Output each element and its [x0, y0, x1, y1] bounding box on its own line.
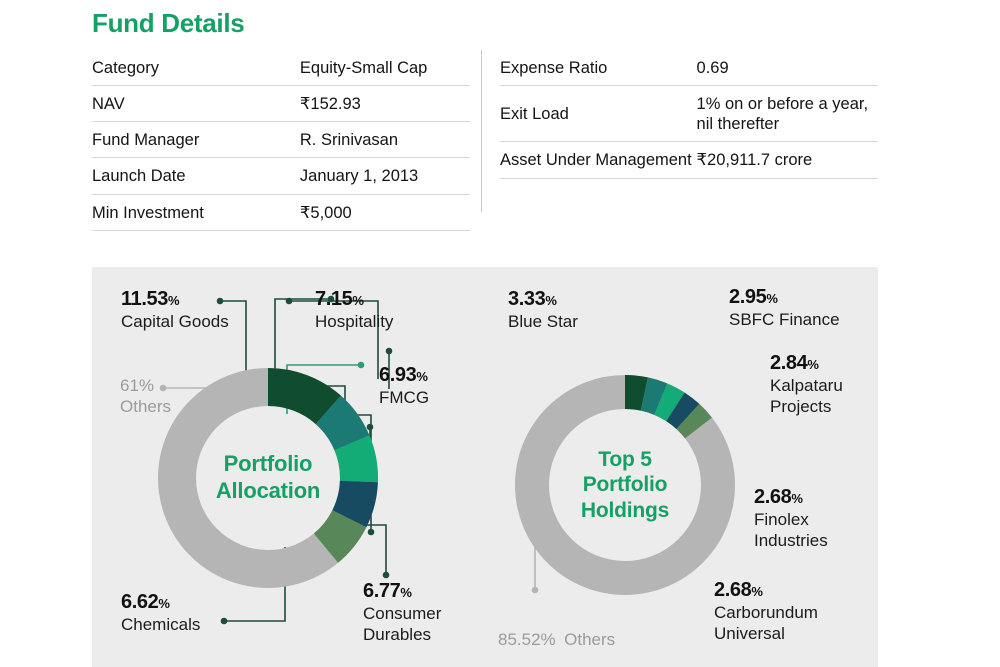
- callout-percent: 61%: [120, 377, 171, 395]
- callout-name: FMCG: [379, 388, 429, 407]
- table-row: Expense Ratio 0.69: [500, 50, 878, 86]
- callout-percent: 6.62%: [121, 592, 200, 613]
- donut-svg-left: [158, 368, 378, 588]
- callout-fmcg: 6.93% FMCG: [379, 365, 429, 407]
- percent-symbol: %: [791, 491, 802, 506]
- callout-name: Others: [564, 630, 615, 649]
- callout-consumer-durables: 6.77% Consumer Durables: [363, 581, 441, 644]
- percent-symbol: %: [158, 596, 169, 611]
- top-holdings-donut: Top 5 Portfolio Holdings: [515, 375, 735, 595]
- callout-name-line-2: Projects: [770, 397, 843, 416]
- row-label: Expense Ratio: [500, 50, 697, 86]
- table-row: Fund Manager R. Srinivasan: [92, 122, 470, 158]
- row-value: R. Srinivasan: [300, 122, 470, 158]
- row-label: Min Investment: [92, 194, 300, 230]
- callout-name-line-1: Finolex: [754, 510, 828, 529]
- charts-panel: Portfolio Allocation Top 5 Portfolio Hol…: [92, 267, 878, 667]
- callout-others-left: 61% Others: [120, 377, 171, 416]
- callout-percent: 2.68%: [754, 487, 828, 508]
- callout-name-line-1: Carborundum: [714, 603, 818, 622]
- callout-name-line-2: Durables: [363, 625, 441, 644]
- callout-name: Capital Goods: [121, 312, 229, 331]
- callout-kalpataru-projects: 2.84% Kalpataru Projects: [770, 353, 843, 416]
- table-row: Min Investment ₹5,000: [92, 194, 470, 230]
- percent-symbol: %: [352, 293, 363, 308]
- row-label: Category: [92, 50, 300, 86]
- percent-symbol: %: [168, 293, 179, 308]
- row-value: ₹20,911.7 crore: [697, 142, 878, 178]
- callout-carborundum-universal: 2.68% Carborundum Universal: [714, 580, 818, 643]
- callout-percent: 11.53%: [121, 289, 229, 310]
- callout-percent: 85.52%: [498, 630, 556, 649]
- row-value: ₹5,000: [300, 194, 470, 230]
- page-title: Fund Details: [92, 8, 244, 39]
- callout-name: Chemicals: [121, 615, 200, 634]
- portfolio-allocation-donut: Portfolio Allocation: [158, 368, 378, 588]
- callout-capital-goods: 11.53% Capital Goods: [121, 289, 229, 331]
- callout-percent: 6.77%: [363, 581, 441, 602]
- callout-percent: 6.93%: [379, 365, 429, 386]
- table-row: Launch Date January 1, 2013: [92, 158, 470, 194]
- callout-finolex-industries: 2.68% Finolex Industries: [754, 487, 828, 550]
- row-label: Fund Manager: [92, 122, 300, 158]
- callout-name: SBFC Finance: [729, 310, 840, 329]
- table-divider: [481, 50, 482, 212]
- percent-symbol: %: [807, 357, 818, 372]
- table-row: Category Equity-Small Cap: [92, 50, 470, 86]
- row-value: Equity-Small Cap: [300, 50, 470, 86]
- row-label: NAV: [92, 86, 300, 122]
- callout-name: Hospitality: [315, 312, 393, 331]
- callout-percent: 7.15%: [315, 289, 393, 310]
- donut-svg-right: [515, 375, 735, 595]
- row-value: ₹152.93: [300, 86, 470, 122]
- callout-others-right: 85.52% Others: [498, 630, 615, 650]
- fund-details-table-left: Category Equity-Small Cap NAV ₹152.93 Fu…: [92, 50, 470, 231]
- callout-percent: 3.33%: [508, 289, 578, 310]
- row-value: 0.69: [697, 50, 878, 86]
- table-row: NAV ₹152.93: [92, 86, 470, 122]
- callout-name: Blue Star: [508, 312, 578, 331]
- callout-blue-star: 3.33% Blue Star: [508, 289, 578, 331]
- callout-name-line-2: Industries: [754, 531, 828, 550]
- callout-percent: 2.68%: [714, 580, 818, 601]
- row-value: 1% on or before a year, nil therefter: [697, 86, 878, 142]
- table-row: Asset Under Management ₹20,911.7 crore: [500, 142, 878, 178]
- fund-details-table-right: Expense Ratio 0.69 Exit Load 1% on or be…: [500, 50, 878, 179]
- callout-name-line-2: Universal: [714, 624, 818, 643]
- percent-symbol: %: [545, 293, 556, 308]
- row-label: Exit Load: [500, 86, 697, 142]
- row-value: January 1, 2013: [300, 158, 470, 194]
- percent-symbol: %: [400, 585, 411, 600]
- callout-percent: 2.95%: [729, 287, 840, 308]
- table-row: Exit Load 1% on or before a year, nil th…: [500, 86, 878, 142]
- callout-name-line-1: Kalpataru: [770, 376, 843, 395]
- row-label: Launch Date: [92, 158, 300, 194]
- callout-name: Others: [120, 397, 171, 416]
- callout-name-line-1: Consumer: [363, 604, 441, 623]
- percent-symbol: %: [751, 584, 762, 599]
- row-label: Asset Under Management: [500, 142, 697, 178]
- callout-chemicals: 6.62% Chemicals: [121, 592, 200, 634]
- callout-sbfc-finance: 2.95% SBFC Finance: [729, 287, 840, 329]
- percent-symbol: %: [766, 291, 777, 306]
- percent-symbol: %: [416, 369, 427, 384]
- callout-percent: 2.84%: [770, 353, 843, 374]
- callout-hospitality: 7.15% Hospitality: [315, 289, 393, 331]
